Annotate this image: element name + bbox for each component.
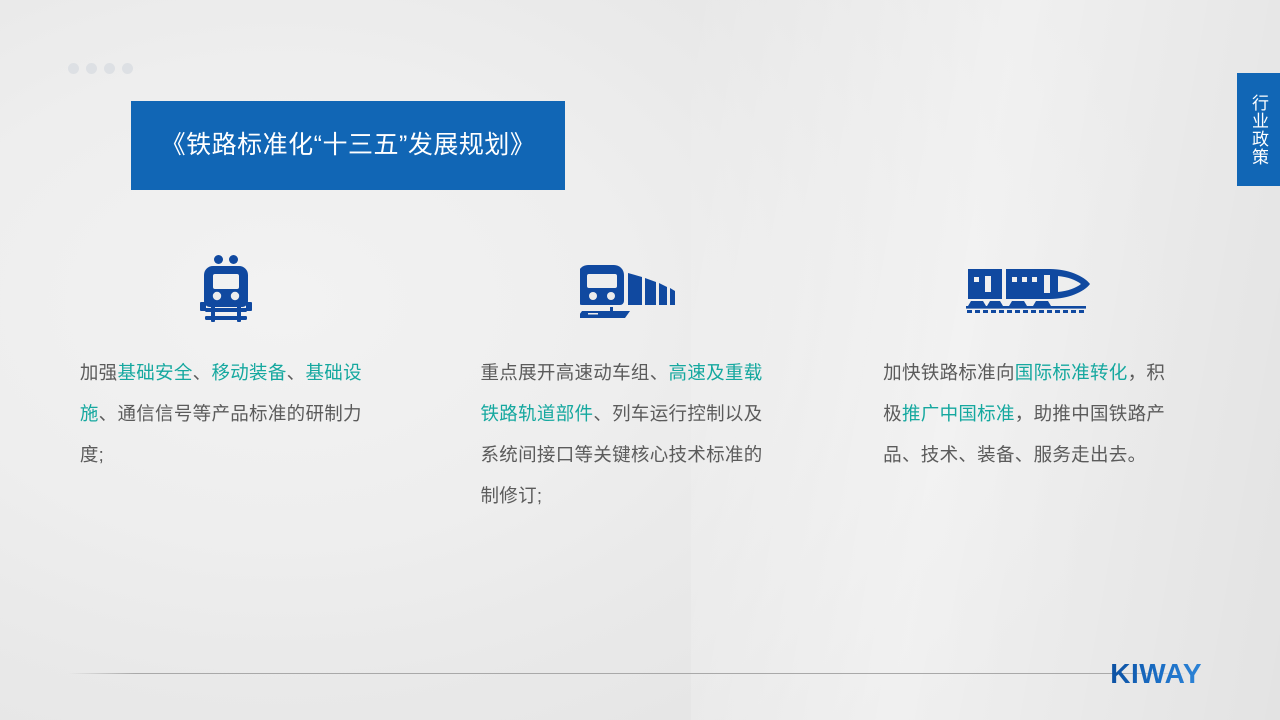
text-run: 、 [193, 362, 212, 383]
footer-divider [68, 673, 1188, 674]
slide-canvas: 《铁路标准化“十三五”发展规划》 行业政策 [0, 0, 1280, 720]
column-body-text: 加快铁路标准向国际标准转化，积极推广中国标准，助推中国铁路产品、技术、装备、服务… [883, 352, 1183, 475]
text-run: 重点展开高速动车组、 [481, 362, 669, 383]
highlight-run: 基础安全 [117, 362, 192, 383]
content-column: 加强基础安全、移动装备、基础设施、通信信号等产品标准的研制力度; [0, 250, 427, 516]
content-column: 重点展开高速动车组、高速及重载铁路轨道部件、列车运行控制以及系统间接口等关键核心… [427, 250, 829, 516]
text-run: 、 [287, 362, 306, 383]
content-columns: 加强基础安全、移动装备、基础设施、通信信号等产品标准的研制力度; [0, 250, 1230, 516]
text-run: 、通信信号等产品标准的研制力度; [80, 403, 362, 465]
title-banner: 《铁路标准化“十三五”发展规划》 [131, 101, 565, 190]
decorative-dot [122, 63, 133, 74]
brand-logo: KIWAY [1110, 658, 1202, 690]
text-run: 加快铁路标准向 [883, 362, 1015, 383]
page-title: 《铁路标准化“十三五”发展规划》 [151, 129, 546, 162]
decorative-dot [104, 63, 115, 74]
decorative-dot [68, 63, 79, 74]
highlight-run: 移动装备 [211, 362, 286, 383]
section-tab-industry-policy[interactable]: 行业政策 [1237, 73, 1280, 186]
train-perspective-icon [580, 250, 676, 328]
text-run: 加强 [80, 362, 118, 383]
decorative-dot [86, 63, 97, 74]
highlight-run: 国际标准转化 [1015, 362, 1128, 383]
content-column: 加快铁路标准向国际标准转化，积极推广中国标准，助推中国铁路产品、技术、装备、服务… [828, 250, 1230, 516]
section-tab-label: 行业政策 [1245, 94, 1272, 166]
train-front-icon [195, 250, 257, 328]
highlight-run: 推广中国标准 [902, 403, 1015, 424]
column-body-text: 重点展开高速动车组、高速及重载铁路轨道部件、列车运行控制以及系统间接口等关键核心… [481, 352, 781, 516]
column-body-text: 加强基础安全、移动装备、基础设施、通信信号等产品标准的研制力度; [80, 352, 380, 475]
high-speed-train-icon [966, 250, 1092, 328]
decorative-dots [68, 63, 133, 74]
